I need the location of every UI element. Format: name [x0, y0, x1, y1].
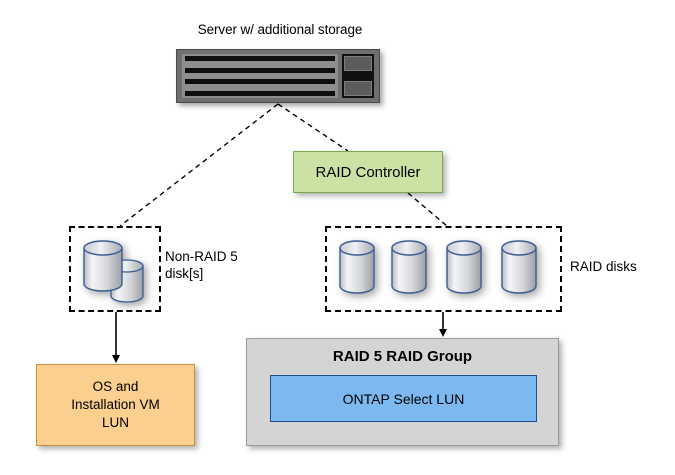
raid-disk-icon	[441, 238, 487, 304]
server-drive-bays	[182, 54, 338, 98]
drive-bay-icon	[185, 91, 335, 96]
drive-bay-icon	[185, 56, 335, 61]
server-indicator-panel	[342, 54, 374, 98]
link-server-to-raid-controller	[278, 104, 348, 151]
non-raid-disk-label-line2: disk[s]	[165, 265, 265, 282]
diagram-canvas: Server w/ additional storage RAID Contro…	[0, 0, 675, 475]
os-lun-line3: LUN	[102, 414, 129, 432]
drive-bay-icon	[185, 68, 335, 73]
server-chassis-inner	[182, 54, 374, 98]
raid5-raid-group-box: RAID 5 RAID Group ONTAP Select LUN	[246, 338, 559, 446]
ontap-select-lun-box: ONTAP Select LUN	[270, 375, 537, 422]
server-chassis	[176, 49, 380, 103]
os-installation-vm-lun-box: OS and Installation VM LUN	[36, 364, 195, 446]
raid-disk-icon	[334, 238, 380, 304]
server-indicator-icon	[344, 56, 372, 71]
raid5-raid-group-title: RAID 5 RAID Group	[247, 348, 558, 365]
non-raid-disk-label-line1: Non-RAID 5	[165, 248, 265, 265]
ontap-select-lun-label: ONTAP Select LUN	[343, 391, 465, 407]
raid-disk-icon	[386, 238, 432, 304]
raid-disk-icon	[496, 238, 542, 304]
non-raid-disk-label: Non-RAID 5 disk[s]	[165, 248, 265, 282]
server-indicator-icon	[344, 81, 372, 96]
raid-disks-label: RAID disks	[570, 258, 670, 275]
non-raid-disk-stack-icon	[74, 234, 160, 308]
raid-controller-node: RAID Controller	[293, 151, 443, 193]
raid-controller-label: RAID Controller	[315, 164, 420, 181]
os-lun-line1: OS and	[93, 378, 139, 396]
drive-bay-icon	[185, 79, 335, 84]
page-title: Server w/ additional storage	[155, 22, 405, 37]
link-server-to-nonraid	[120, 104, 278, 226]
os-lun-line2: Installation VM	[71, 396, 160, 414]
link-raid-controller-to-disks	[408, 193, 447, 226]
